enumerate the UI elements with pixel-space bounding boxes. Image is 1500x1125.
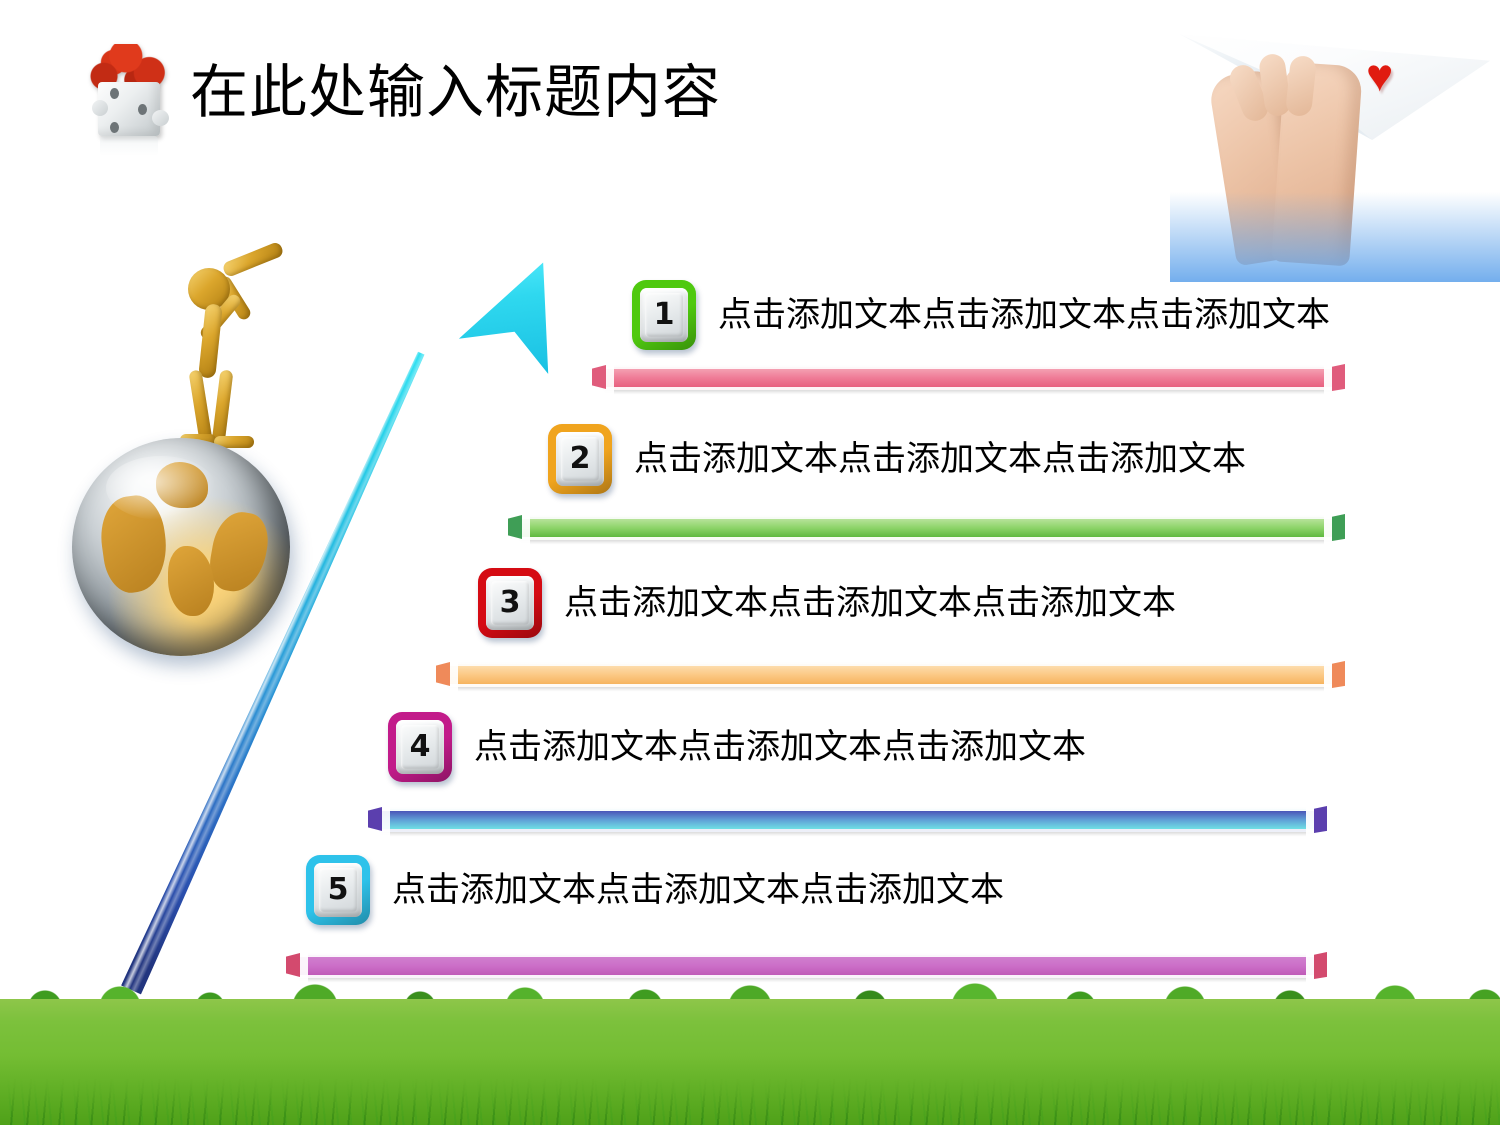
slide-canvas: 在此处输入标题内容 ♥ (0, 0, 1500, 1125)
item-text-4: 点击添加文本点击添加文本点击添加文本 (474, 730, 1086, 764)
number-badge-2[interactable]: 2 (548, 424, 612, 494)
list-item[interactable]: 1 点击添加文本点击添加文本点击添加文本 (632, 280, 1330, 350)
landscape-band (0, 965, 1500, 1125)
badge-keycap: 1 (640, 288, 688, 342)
progress-bar-3 (434, 655, 1350, 693)
continent-shape (205, 508, 272, 596)
puzzle-house-icon (88, 42, 170, 142)
bar-cap-left (590, 358, 614, 396)
badge-keycap: 2 (556, 432, 604, 486)
progress-bar-2 (506, 508, 1350, 546)
item-text-1: 点击添加文本点击添加文本点击添加文本 (718, 298, 1330, 332)
bar-top-edge (606, 358, 1342, 367)
list-item[interactable]: 3 点击添加文本点击添加文本点击添加文本 (478, 568, 1176, 638)
list-item[interactable]: 4 点击添加文本点击添加文本点击添加文本 (388, 712, 1086, 782)
globe-icon (72, 438, 290, 656)
badge-number-label: 3 (500, 588, 521, 618)
number-badge-1[interactable]: 1 (632, 280, 696, 350)
bar-top-edge (450, 655, 1342, 664)
telescope-shape (221, 241, 284, 278)
number-badge-5[interactable]: 5 (306, 855, 370, 925)
badge-number-label: 2 (570, 444, 591, 474)
badge-number-label: 1 (654, 300, 675, 330)
puzzle-reflection (100, 136, 158, 156)
grass-blades (0, 1079, 1500, 1125)
badge-keycap: 3 (486, 576, 534, 630)
arrow-head (455, 242, 589, 378)
item-text-3: 点击添加文本点击添加文本点击添加文本 (564, 586, 1176, 620)
number-badge-4[interactable]: 4 (388, 712, 452, 782)
bar-cap-right (1324, 651, 1352, 697)
puzzle-knob (152, 110, 169, 126)
heart-icon: ♥ (1366, 52, 1416, 98)
bar-top-edge (300, 946, 1324, 955)
puzzle-hole (110, 88, 119, 99)
bar-face (380, 808, 1318, 832)
bar-top-edge (382, 800, 1324, 809)
badge-number-label: 5 (328, 875, 349, 905)
bar-cap-left (434, 655, 458, 693)
paper-airplane-icon: ♥ (1170, 12, 1500, 282)
progress-bar-1 (590, 358, 1350, 396)
bar-top-edge (522, 508, 1342, 517)
bar-cap-right (1306, 796, 1334, 842)
list-item[interactable]: 2 点击添加文本点击添加文本点击添加文本 (548, 424, 1246, 494)
badge-keycap: 5 (314, 863, 362, 917)
plane-fade-overlay (1170, 192, 1500, 282)
figure-leg (188, 369, 212, 442)
badge-keycap: 4 (396, 720, 444, 774)
bar-cap-left (366, 800, 390, 838)
bar-cap-left (506, 508, 530, 546)
page-title: 在此处输入标题内容 (190, 63, 721, 121)
bar-cap-right (1324, 504, 1352, 550)
golden-figure-icon (136, 250, 286, 450)
bar-cap-right (1324, 354, 1352, 400)
title-row: 在此处输入标题内容 (88, 42, 721, 142)
item-text-2: 点击添加文本点击添加文本点击添加文本 (634, 442, 1246, 476)
cloud-streak (60, 210, 360, 228)
puzzle-knob (92, 100, 108, 116)
continent-shape (168, 546, 214, 616)
puzzle-hole (110, 122, 119, 133)
puzzle-hole (138, 104, 147, 115)
progress-bar-4 (366, 800, 1332, 838)
globe-highlight (106, 456, 216, 520)
globe-illustration (60, 250, 350, 670)
figure-torso (198, 303, 223, 378)
number-badge-3[interactable]: 3 (478, 568, 542, 638)
bar-face (448, 663, 1336, 687)
list-item[interactable]: 5 点击添加文本点击添加文本点击添加文本 (306, 855, 1004, 925)
bar-face (604, 366, 1336, 390)
figure-leg (212, 369, 234, 444)
item-text-5: 点击添加文本点击添加文本点击添加文本 (392, 873, 1004, 907)
badge-number-label: 4 (410, 732, 431, 762)
bar-face (520, 516, 1336, 540)
